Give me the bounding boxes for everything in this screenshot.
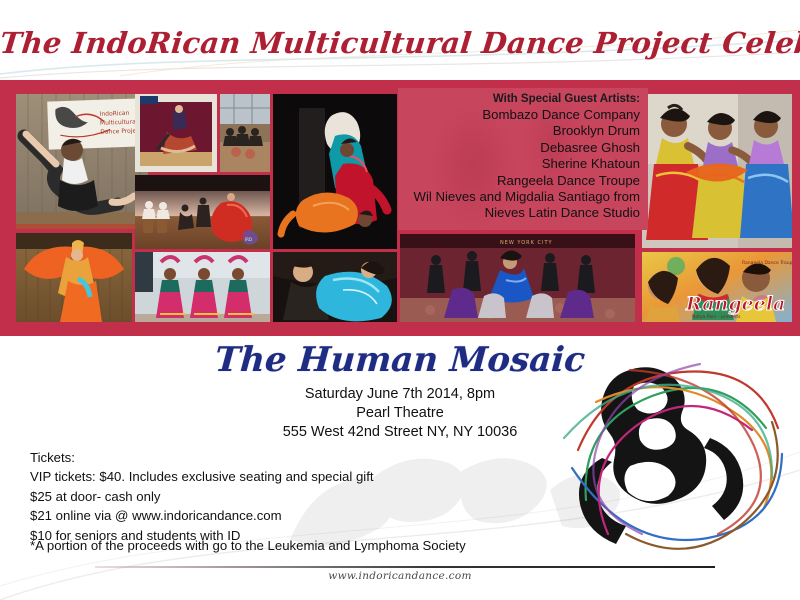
photo-group-rehearsal [220,94,270,172]
svg-text:IRD: IRD [245,237,252,242]
svg-text:Rangeela: Rangeela [685,293,785,315]
photo-three-sari-dancers [642,94,792,248]
guest-artist-item: Brooklyn Drum [398,123,640,139]
photo-orange-fan-veils [16,233,132,322]
tickets-heading: Tickets: [30,448,374,467]
photo-contemporary-duo-banner: IndoRican Multicultural Dance Project [16,94,148,229]
footer-divider [95,566,715,568]
photo-stage-duo-maroon [135,94,217,172]
guest-artist-item: Wil Nieves and Migdalia Santiago from [398,189,640,205]
event-venue: Pearl Theatre [0,404,800,423]
svg-text:Rangeela Dance Troupe: Rangeela Dance Troupe [742,260,792,266]
svg-text:Natya Parv - presents: Natya Parv - presents [692,314,741,320]
guest-artists-heading: With Special Guest Artists: [398,91,640,107]
page-title: The IndoRican Multicultural Dance Projec… [0,26,800,60]
ticket-line-door: $25 at door- cash only [30,487,374,506]
ticket-line-vip: VIP tickets: $40. Includes exclusive sea… [30,467,374,486]
event-title: The Human Mosaic [0,340,800,380]
photo-bomba-stage: IRD [135,175,270,249]
photo-pink-sari-line [135,252,270,322]
guest-artists-list: With Special Guest Artists: Bombazo Danc… [398,91,640,222]
event-details: Saturday June 7th 2014, 8pm Pearl Theatr… [0,385,800,442]
collage-inner: IndoRican Multicultural Dance Project [8,88,792,328]
svg-text:NEW YORK CITY: NEW YORK CITY [500,240,553,246]
flyer-header: The IndoRican Multicultural Dance Projec… [0,0,800,80]
photo-blue-gown-duo [273,252,397,322]
guest-artist-item: Nieves Latin Dance Studio [398,205,640,221]
tickets-block: Tickets: VIP tickets: $40. Includes excl… [30,448,374,545]
photo-collage-band: IndoRican Multicultural Dance Project [0,80,800,336]
guest-artist-item: Bombazo Dance Company [398,107,640,123]
photo-red-costume-pair [273,94,397,249]
footer-website-link[interactable]: www.indoricandance.com [0,570,800,582]
guest-artist-item: Sherine Khatoun [398,156,640,172]
flyer-canvas: The IndoRican Multicultural Dance Projec… [0,0,800,600]
guest-artist-item: Rangeela Dance Troupe [398,173,640,189]
event-address: 555 West 42nd Street NY, NY 10036 [0,423,800,442]
guest-artist-item: Debasree Ghosh [398,140,640,156]
svg-text:Multicultural: Multicultural [100,118,138,126]
proceeds-note: *A portion of the proceeds with go to th… [30,538,466,553]
event-date: Saturday June 7th 2014, 8pm [0,385,800,404]
photo-rangeela-poster: Rangeela Rangeela Dance Troupe Natya Par… [642,252,792,322]
photo-blue-ensemble-stage: NEW YORK CITY [400,234,635,322]
guest-artists-panel: With Special Guest Artists: Bombazo Danc… [398,88,648,230]
svg-text:IndoRican: IndoRican [100,110,130,118]
ticket-line-online[interactable]: $21 online via @ www.indoricandance.com [30,506,374,525]
